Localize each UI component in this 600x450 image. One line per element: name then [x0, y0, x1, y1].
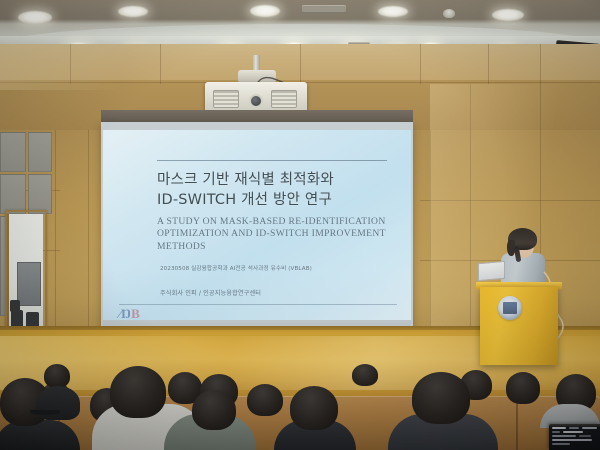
acoustic-panel: [0, 174, 26, 214]
projection-screen-case: [101, 110, 413, 122]
code-line: [579, 435, 591, 437]
audience-head: [247, 384, 283, 416]
audience-head: [506, 372, 540, 404]
audience-head: [44, 364, 70, 388]
slide-author-line: 20230508 실감융합공학과 AI전공 석사과정 유수비 (VBLAB): [160, 264, 312, 272]
university-crest-icon: [498, 296, 522, 320]
podium: [480, 287, 558, 365]
code-line: [569, 427, 579, 429]
slide-subtitle: A STUDY ON MASK-BASED RE-IDENTIFICATION …: [157, 216, 386, 253]
code-line: [552, 431, 560, 433]
slide-logo-right: B: [131, 306, 140, 320]
presenter-laptop: [478, 261, 505, 281]
slide-title: 마스크 기반 재식별 최적화와 ID-SWITCH 개선 방안 연구: [157, 170, 334, 210]
slide-logo: ∕ŊB: [119, 306, 140, 320]
recessed-downlight: [378, 6, 408, 17]
projector-lens: [249, 94, 263, 108]
audience-laptop-screen[interactable]: [549, 424, 600, 450]
audience-head: [290, 386, 338, 430]
smoke-detector: [443, 9, 455, 18]
slide-footer-rule: [119, 304, 397, 305]
code-line: [552, 435, 576, 437]
panel-seam: [70, 44, 71, 84]
panel-seam: [88, 130, 89, 330]
acoustic-panel: [28, 132, 52, 172]
panel-seam: [488, 44, 489, 84]
panel-seam: [420, 44, 421, 84]
slide-affiliation-line: 주식회사 인피 / 인공지능융합연구센터: [160, 288, 261, 297]
panel-seam: [420, 200, 600, 201]
code-line: [582, 427, 597, 429]
projection-screen: 마스크 기반 재식별 최적화와 ID-SWITCH 개선 방안 연구 A STU…: [101, 122, 413, 340]
audience-head: [412, 372, 470, 424]
panel-seam: [300, 44, 301, 84]
panel-seam: [55, 130, 56, 330]
recessed-downlight: [18, 11, 52, 24]
presentation-slide: 마스크 기반 재식별 최적화와 ID-SWITCH 개선 방안 연구 A STU…: [103, 130, 411, 320]
seat-divider: [516, 398, 518, 450]
panel-seam: [160, 44, 161, 84]
recessed-downlight: [492, 9, 524, 21]
hvac-vent: [302, 5, 346, 13]
recessed-downlight: [250, 5, 280, 17]
auditorium-photo: 마스크 기반 재식별 최적화와 ID-SWITCH 개선 방안 연구 A STU…: [0, 0, 600, 450]
cap-brim: [30, 410, 60, 415]
audience-head: [352, 364, 378, 386]
acoustic-panel: [0, 132, 26, 172]
audience-head: [110, 366, 166, 418]
code-line: [552, 427, 566, 429]
slide-top-rule: [157, 160, 387, 161]
panel-seam: [470, 84, 471, 330]
code-line: [552, 439, 592, 441]
projector-vent: [213, 90, 239, 108]
recessed-downlight: [118, 6, 148, 17]
panel-seam: [430, 130, 431, 330]
code-line: [552, 443, 570, 445]
code-line: [563, 431, 583, 433]
panel-seam: [540, 44, 541, 84]
slide-logo-left: ∕Ŋ: [119, 306, 131, 320]
projector-vent: [271, 90, 297, 108]
acoustic-panel: [28, 174, 52, 214]
audience-head: [192, 390, 236, 430]
